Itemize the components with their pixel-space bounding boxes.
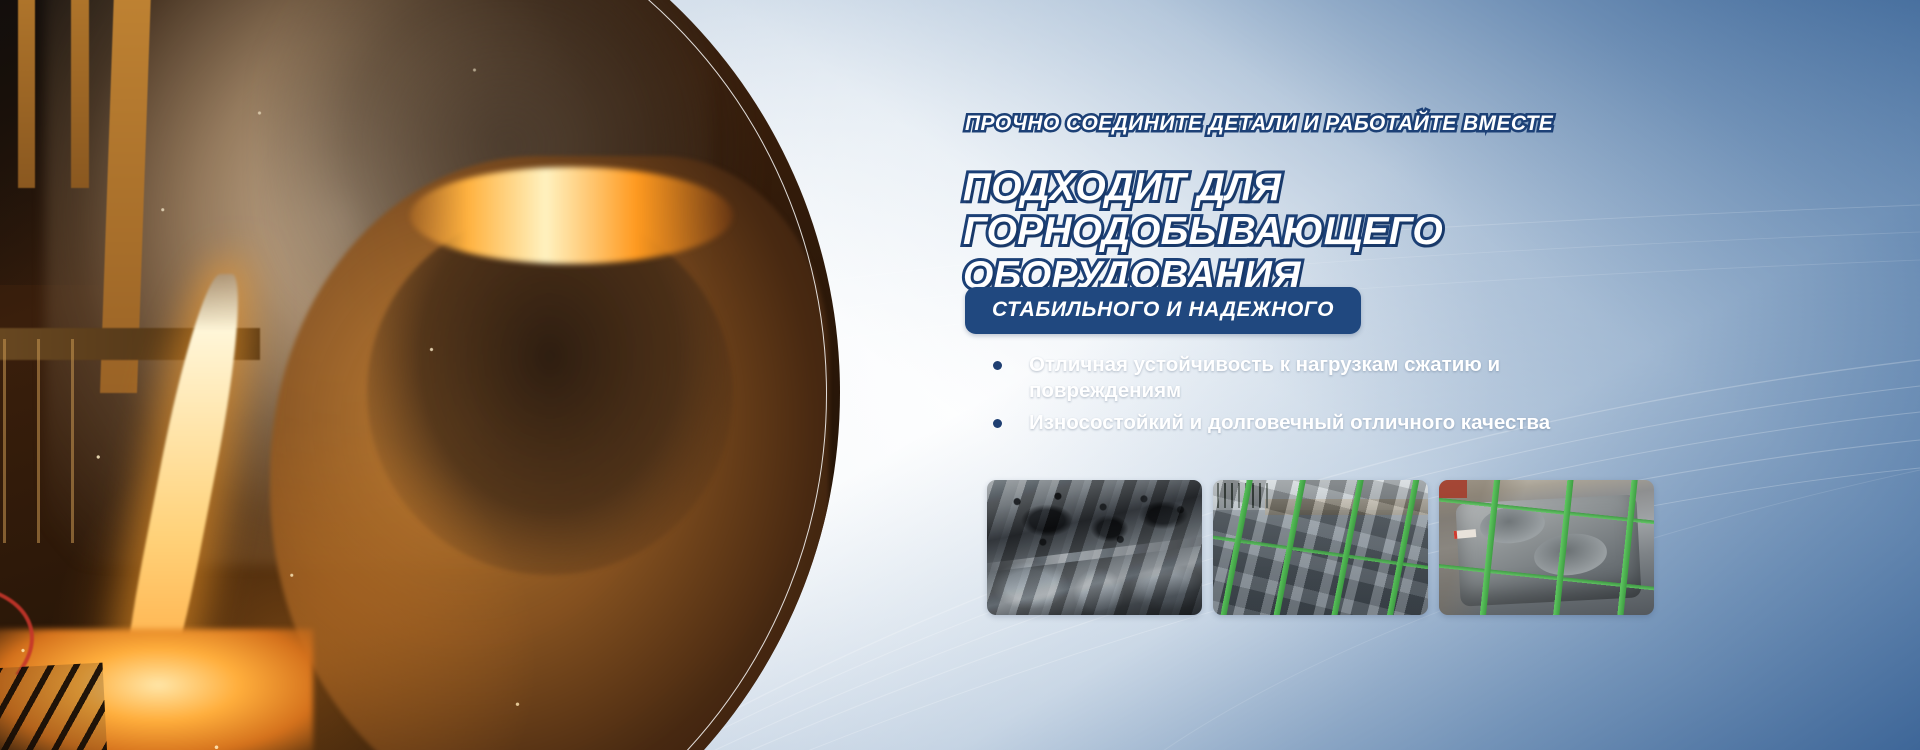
- product-thumbnail-gallery: [987, 480, 1654, 615]
- feature-list: Отличная устойчивость к нагрузкам сжатию…: [985, 352, 1605, 442]
- banner-content: ПРОЧНО СОЕДИНИТЕ ДЕТАЛИ И РАБОТАЙТЕ ВМЕС…: [965, 0, 1865, 750]
- bullet-dot-icon: [993, 361, 1002, 370]
- bullet-dot-icon: [993, 419, 1002, 428]
- status-badge-label: СТАБИЛЬНОГО И НАДЕЖНОГО: [992, 298, 1334, 321]
- stacked-castings-image: [1213, 480, 1428, 615]
- status-badge: СТАБИЛЬНОГО И НАДЕЖНОГО: [965, 287, 1361, 334]
- hero-banner: ПРОЧНО СОЕДИНИТЕ ДЕТАЛИ И РАБОТАЙТЕ ВМЕС…: [0, 0, 1920, 750]
- foundry-hero-image: [0, 0, 840, 750]
- foundry-scene: [0, 0, 840, 750]
- product-thumbnail-3[interactable]: [1439, 480, 1654, 615]
- product-thumbnail-2[interactable]: [1213, 480, 1428, 615]
- list-item: Отличная устойчивость к нагрузкам сжатию…: [985, 352, 1605, 404]
- product-thumbnail-1[interactable]: [987, 480, 1202, 615]
- eyebrow-text: ПРОЧНО СОЕДИНИТЕ ДЕТАЛИ И РАБОТАЙТЕ ВМЕС…: [965, 112, 1553, 136]
- list-item-label: Отличная устойчивость к нагрузкам сжатию…: [1029, 353, 1500, 402]
- list-item: Износостойкий и долговечный отличного ка…: [985, 410, 1605, 436]
- large-casting-image: [1439, 480, 1654, 615]
- page-title: ПОДХОДИТ ДЛЯ ГОРНОДОБЫВАЮЩЕГО ОБОРУДОВАН…: [963, 166, 1703, 298]
- list-item-label: Износостойкий и долговечный отличного ка…: [1029, 411, 1550, 434]
- track-shoe-castings-image: [987, 480, 1202, 615]
